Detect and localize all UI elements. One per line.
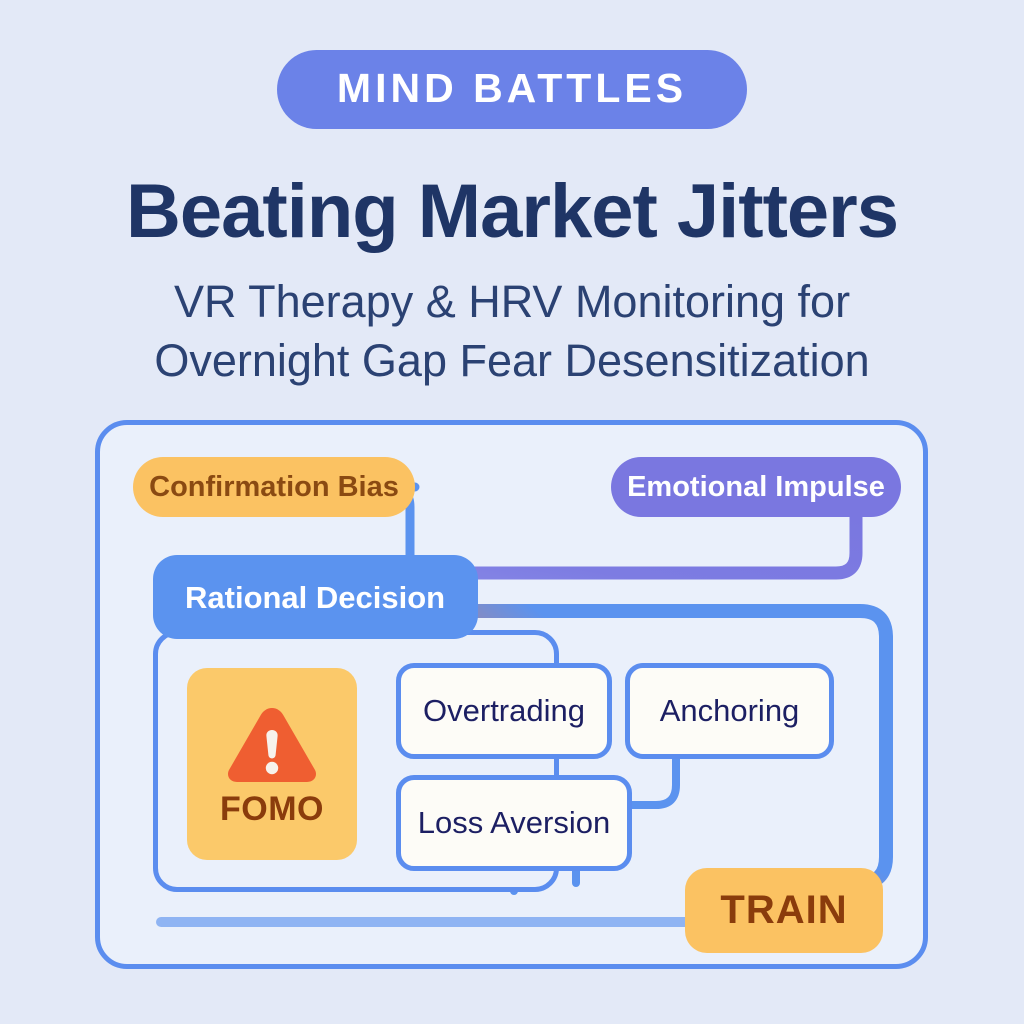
category-badge: MIND BATTLES bbox=[277, 50, 747, 129]
page-subtitle: VR Therapy & HRV Monitoring for Overnigh… bbox=[0, 272, 1024, 391]
node-confirmation-bias[interactable]: Confirmation Bias bbox=[133, 457, 415, 517]
card-loss-aversion[interactable]: Loss Aversion bbox=[396, 775, 632, 871]
poster-canvas: MIND BATTLES Beating Market Jitters VR T… bbox=[0, 0, 1024, 1024]
diagram-frame: Confirmation Bias Emotional Impulse Rati… bbox=[95, 420, 928, 969]
warning-triangle-icon bbox=[224, 702, 320, 786]
node-rational-decision[interactable]: Rational Decision bbox=[153, 555, 478, 639]
badge-row: MIND BATTLES bbox=[0, 50, 1024, 129]
train-button[interactable]: TRAIN bbox=[685, 868, 883, 953]
card-fomo[interactable]: FOMO bbox=[187, 668, 357, 860]
subtitle-line-1: VR Therapy & HRV Monitoring for bbox=[0, 272, 1024, 331]
fomo-label: FOMO bbox=[220, 792, 324, 826]
page-title: Beating Market Jitters bbox=[0, 172, 1024, 252]
card-anchoring[interactable]: Anchoring bbox=[625, 663, 834, 759]
node-emotional-impulse[interactable]: Emotional Impulse bbox=[611, 457, 901, 517]
subtitle-line-2: Overnight Gap Fear Desensitization bbox=[0, 331, 1024, 390]
card-overtrading[interactable]: Overtrading bbox=[396, 663, 612, 759]
